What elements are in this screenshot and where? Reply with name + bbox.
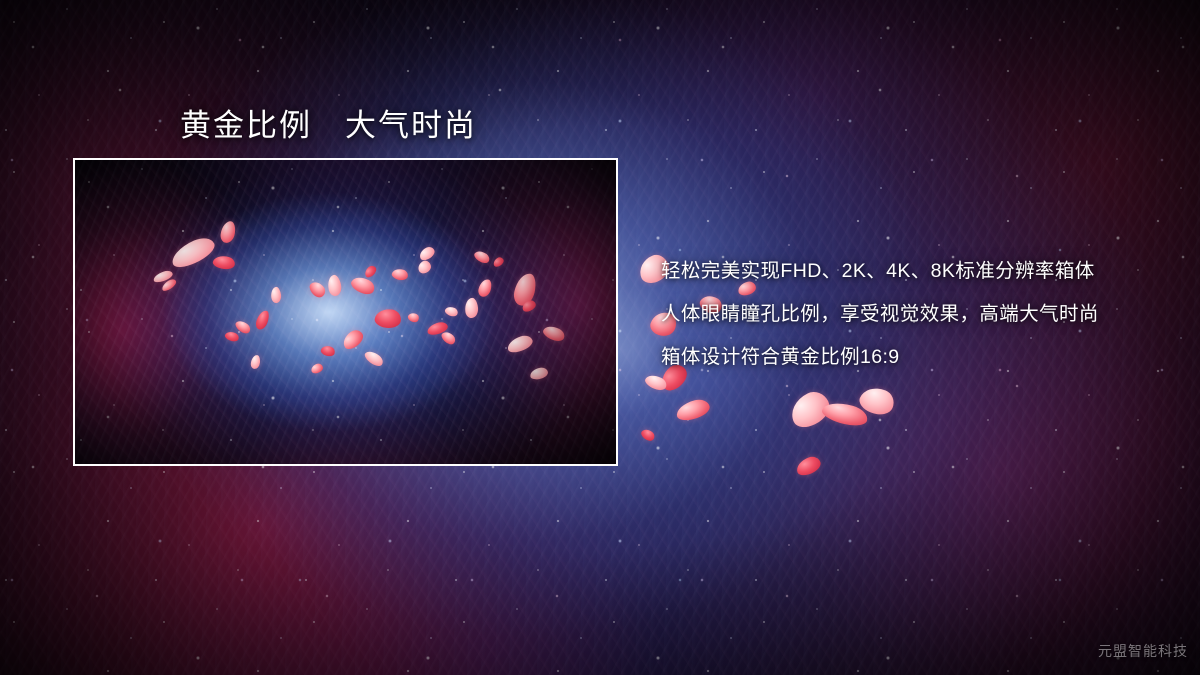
framed-photo	[73, 158, 618, 466]
watermark: 元盟智能科技	[1098, 641, 1188, 661]
photo-vignette	[75, 160, 616, 464]
body-line-3: 箱体设计符合黄金比例16:9	[661, 336, 1161, 379]
body-text-block: 轻松完美实现FHD、2K、4K、8K标准分辨率箱体 人体眼睛瞳孔比例，享受视觉效…	[661, 250, 1161, 379]
body-line-2: 人体眼睛瞳孔比例，享受视觉效果，高端大气时尚	[661, 293, 1161, 336]
page-title: 黄金比例 大气时尚	[180, 100, 477, 145]
body-line-1: 轻松完美实现FHD、2K、4K、8K标准分辨率箱体	[661, 250, 1161, 293]
presentation-slide: 黄金比例 大气时尚 轻松完美实现FHD、2K、4K、8K标准分辨率箱体 人体眼睛…	[0, 0, 1200, 675]
photo-content	[75, 160, 616, 464]
